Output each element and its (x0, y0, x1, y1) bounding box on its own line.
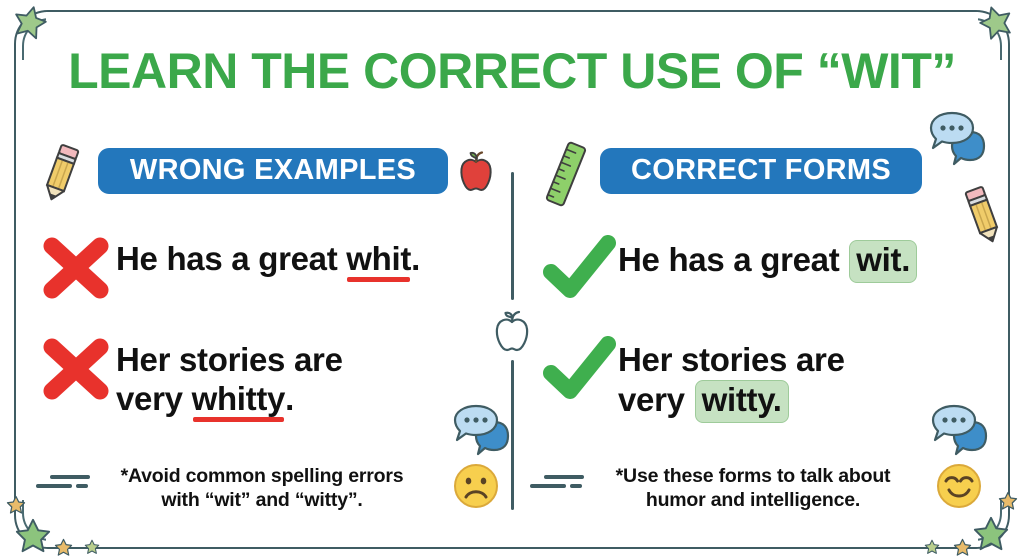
speech-bubbles-icon (452, 404, 514, 458)
sentence-suffix: . (411, 240, 420, 277)
misspelled-word: whit (346, 240, 411, 279)
highlighted-word: witty. (695, 380, 789, 423)
ruler-icon (540, 138, 592, 210)
sentence-prefix: He has a great (116, 240, 346, 277)
page-title: LEARN THE CORRECT USE OF “WIT” (0, 46, 1024, 96)
star-icon (12, 4, 48, 40)
border-mask-bottom (46, 537, 978, 547)
star-icon (998, 491, 1018, 511)
star-icon (54, 538, 73, 557)
footnote-line-2: humor and intelligence. (646, 489, 860, 511)
footnote-line-2: with “wit” and “witty”. (161, 489, 362, 511)
happy-face-icon (935, 462, 983, 510)
star-icon (6, 495, 26, 515)
star-icon (978, 4, 1014, 40)
check-icon (540, 232, 618, 304)
sentence-prefix: very (618, 381, 694, 418)
center-divider-top (511, 172, 514, 300)
sentence-prefix: very (116, 380, 192, 417)
check-icon (540, 333, 618, 405)
banner-correct-forms: CORRECT FORMS (600, 148, 922, 194)
footnote-wrong: *Avoid common spelling errors with “wit”… (86, 464, 438, 513)
correct-example-row-2: Her stories are very witty. (540, 333, 845, 423)
wrong-example-row-1: He has a great whit. (38, 232, 420, 304)
border-mask-top (46, 12, 978, 22)
star-icon (84, 539, 100, 555)
star-icon (14, 517, 52, 555)
star-icon (953, 538, 972, 557)
decorative-dashes (34, 468, 92, 494)
pencil-icon (38, 140, 84, 206)
sentence-line-1: Her stories are (116, 341, 343, 378)
footnote-line-1: *Avoid common spelling errors (121, 465, 404, 487)
footnote-line-1: *Use these forms to talk about (616, 465, 891, 487)
star-icon (924, 539, 940, 555)
speech-bubbles-icon (930, 404, 992, 458)
highlighted-word: wit. (849, 240, 917, 283)
sad-face-icon (452, 462, 500, 510)
apple-outline-icon (489, 308, 535, 356)
star-icon (972, 515, 1010, 553)
wrong-sentence-2: Her stories are very whitty. (116, 333, 343, 419)
footnote-correct: *Use these forms to talk about humor and… (575, 464, 931, 513)
misspelled-word: whitty (192, 380, 286, 419)
correct-example-row-1: He has a great wit. (540, 232, 917, 304)
banner-wrong-examples: WRONG EXAMPLES (98, 148, 448, 194)
border-mask-left (16, 60, 26, 500)
correct-sentence-1: He has a great wit. (618, 232, 917, 283)
cross-icon (38, 232, 116, 304)
sentence-line-1: Her stories are (618, 341, 845, 378)
speech-bubbles-icon (928, 110, 990, 168)
red-apple-icon (455, 148, 497, 196)
sentence-suffix: . (285, 380, 294, 417)
border-mask-right (998, 60, 1008, 500)
pencil-icon (960, 182, 1006, 248)
cross-icon (38, 333, 116, 405)
wrong-sentence-1: He has a great whit. (116, 232, 420, 279)
infographic-poster: LEARN THE CORRECT USE OF “WIT” WRONG EXA… (0, 0, 1024, 559)
correct-sentence-2: Her stories are very witty. (618, 333, 845, 423)
sentence-prefix: He has a great (618, 241, 848, 278)
wrong-example-row-2: Her stories are very whitty. (38, 333, 343, 419)
